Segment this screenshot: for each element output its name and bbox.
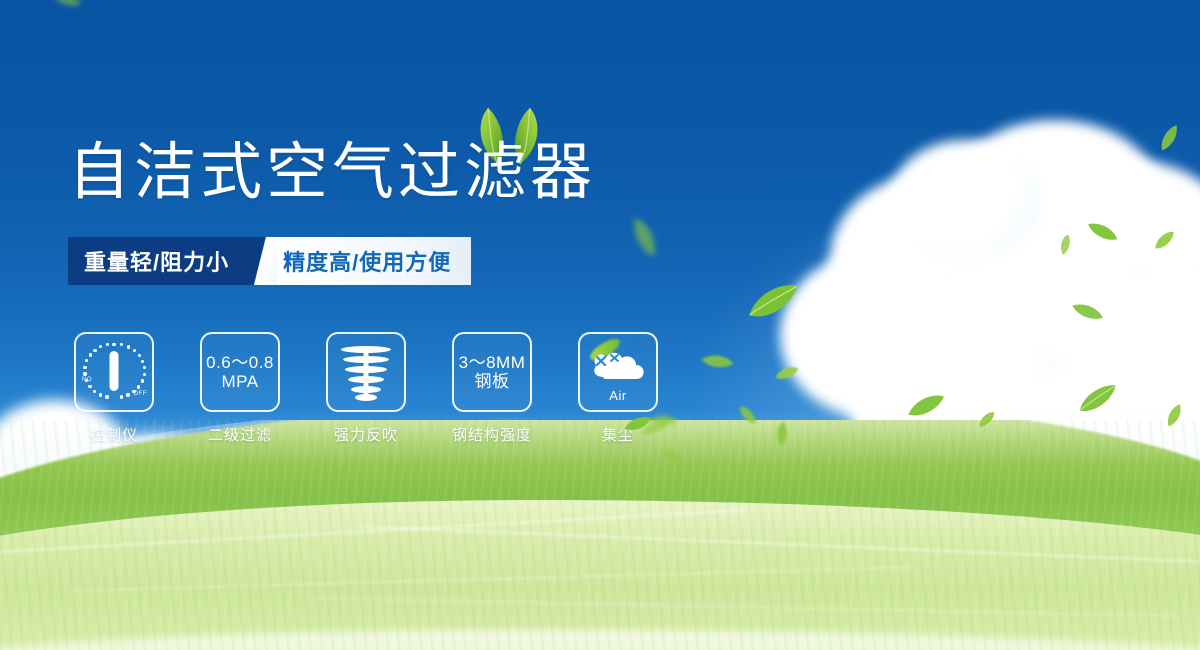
- feature-label: 钢结构强度: [452, 424, 532, 445]
- feature-label: 控制仪: [90, 424, 138, 445]
- feature-icon-box: 3～8MM 钢板: [452, 332, 532, 412]
- feature-list: NO OFF 控制仪 0.6～0.8 MPA 二级过滤: [74, 332, 658, 445]
- dial-label-no: NO: [82, 377, 92, 383]
- subtitle-right: 精度高/使用方便: [277, 237, 471, 285]
- feature-item-blowback[interactable]: 强力反吹: [326, 332, 406, 445]
- steel-line-1: 3～8MM: [459, 353, 526, 372]
- feature-item-pressure[interactable]: 0.6～0.8 MPA 二级过滤: [200, 332, 280, 445]
- grass-texture: [0, 420, 1200, 650]
- pressure-line-1: 0.6～0.8: [206, 353, 274, 372]
- gauge-dial-icon: NO OFF: [83, 341, 145, 403]
- air-cloud-icon: Air: [587, 343, 649, 401]
- subtitle-bar: 重量轻/阻力小 精度高/使用方便: [68, 237, 471, 285]
- feature-item-controller[interactable]: NO OFF 控制仪: [74, 332, 154, 445]
- page-title: 自洁式空气过滤器: [68, 142, 596, 204]
- feature-icon-box: [326, 332, 406, 412]
- steel-plate-text-icon: 3～8MM 钢板: [459, 353, 526, 391]
- feature-label: 强力反吹: [334, 424, 398, 445]
- grass-meadow: [0, 420, 1200, 650]
- feature-icon-box: Air: [578, 332, 658, 412]
- subtitle-divider-slash: [247, 237, 277, 285]
- dial-needle: [110, 351, 119, 391]
- dial-label-off: OFF: [134, 391, 148, 397]
- coil-blowback-icon: [339, 344, 393, 400]
- steel-line-2: 钢板: [459, 372, 526, 391]
- air-text: Air: [587, 388, 649, 403]
- subtitle-left: 重量轻/阻力小: [68, 237, 247, 285]
- feature-icon-box: 0.6～0.8 MPA: [200, 332, 280, 412]
- feature-item-steel[interactable]: 3～8MM 钢板 钢结构强度: [452, 332, 532, 445]
- product-banner: 自洁式空气过滤器 重量轻/阻力小 精度高/使用方便: [0, 0, 1200, 650]
- feature-icon-box: NO OFF: [74, 332, 154, 412]
- pressure-line-2: MPA: [206, 372, 274, 391]
- pressure-text-icon: 0.6～0.8 MPA: [206, 353, 274, 391]
- feature-label: 二级过滤: [208, 424, 272, 445]
